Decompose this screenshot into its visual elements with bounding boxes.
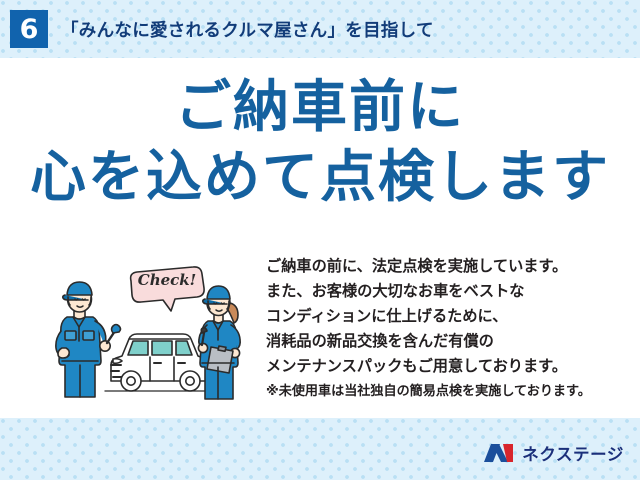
promo-card: 6 「みんなに愛されるクルマ屋さん」を目指して ご納車前に 心を込めて点検します… <box>0 0 640 480</box>
nextage-n-mark <box>483 442 515 464</box>
body-line-1: ご納車の前に、法定点検を実施しています。 <box>266 254 628 279</box>
content-panel: ご納車前に 心を込めて点検します ご納車の前に、法定点検を実施しています。 また… <box>0 58 640 418</box>
body-line-3: コンディションに仕上げるために、 <box>266 304 628 329</box>
mechanics-illustration: Check! <box>55 253 265 403</box>
headline: ご納車前に 心を込めて点検します <box>0 80 640 206</box>
body-line-2: また、お客様の大切なお車をベストな <box>266 279 628 304</box>
body-copy: ご納車の前に、法定点検を実施しています。 また、お客様の大切なお車をベストな コ… <box>266 254 628 403</box>
headline-line-2: 心を込めて点検します <box>0 150 640 206</box>
header: 6 「みんなに愛されるクルマ屋さん」を目指して <box>0 0 640 58</box>
body-note: ※未使用車は当社独自の簡易点検を実施しております。 <box>266 381 628 403</box>
step-number-badge: 6 <box>10 10 48 48</box>
check-bubble-label: Check! <box>138 271 197 289</box>
right-mechanic-figure <box>198 286 240 399</box>
brand-logo: ネクステージ <box>483 440 624 466</box>
header-title: 「みんなに愛されるクルマ屋さん」を目指して <box>61 17 434 42</box>
body-line-4: 消耗品の新品交換を含んだ有償の <box>266 329 628 354</box>
brand-name: ネクステージ <box>522 441 624 465</box>
body-line-5: メンテナンスパックもご用意しております。 <box>266 354 628 379</box>
headline-line-1: ご納車前に <box>0 80 640 136</box>
